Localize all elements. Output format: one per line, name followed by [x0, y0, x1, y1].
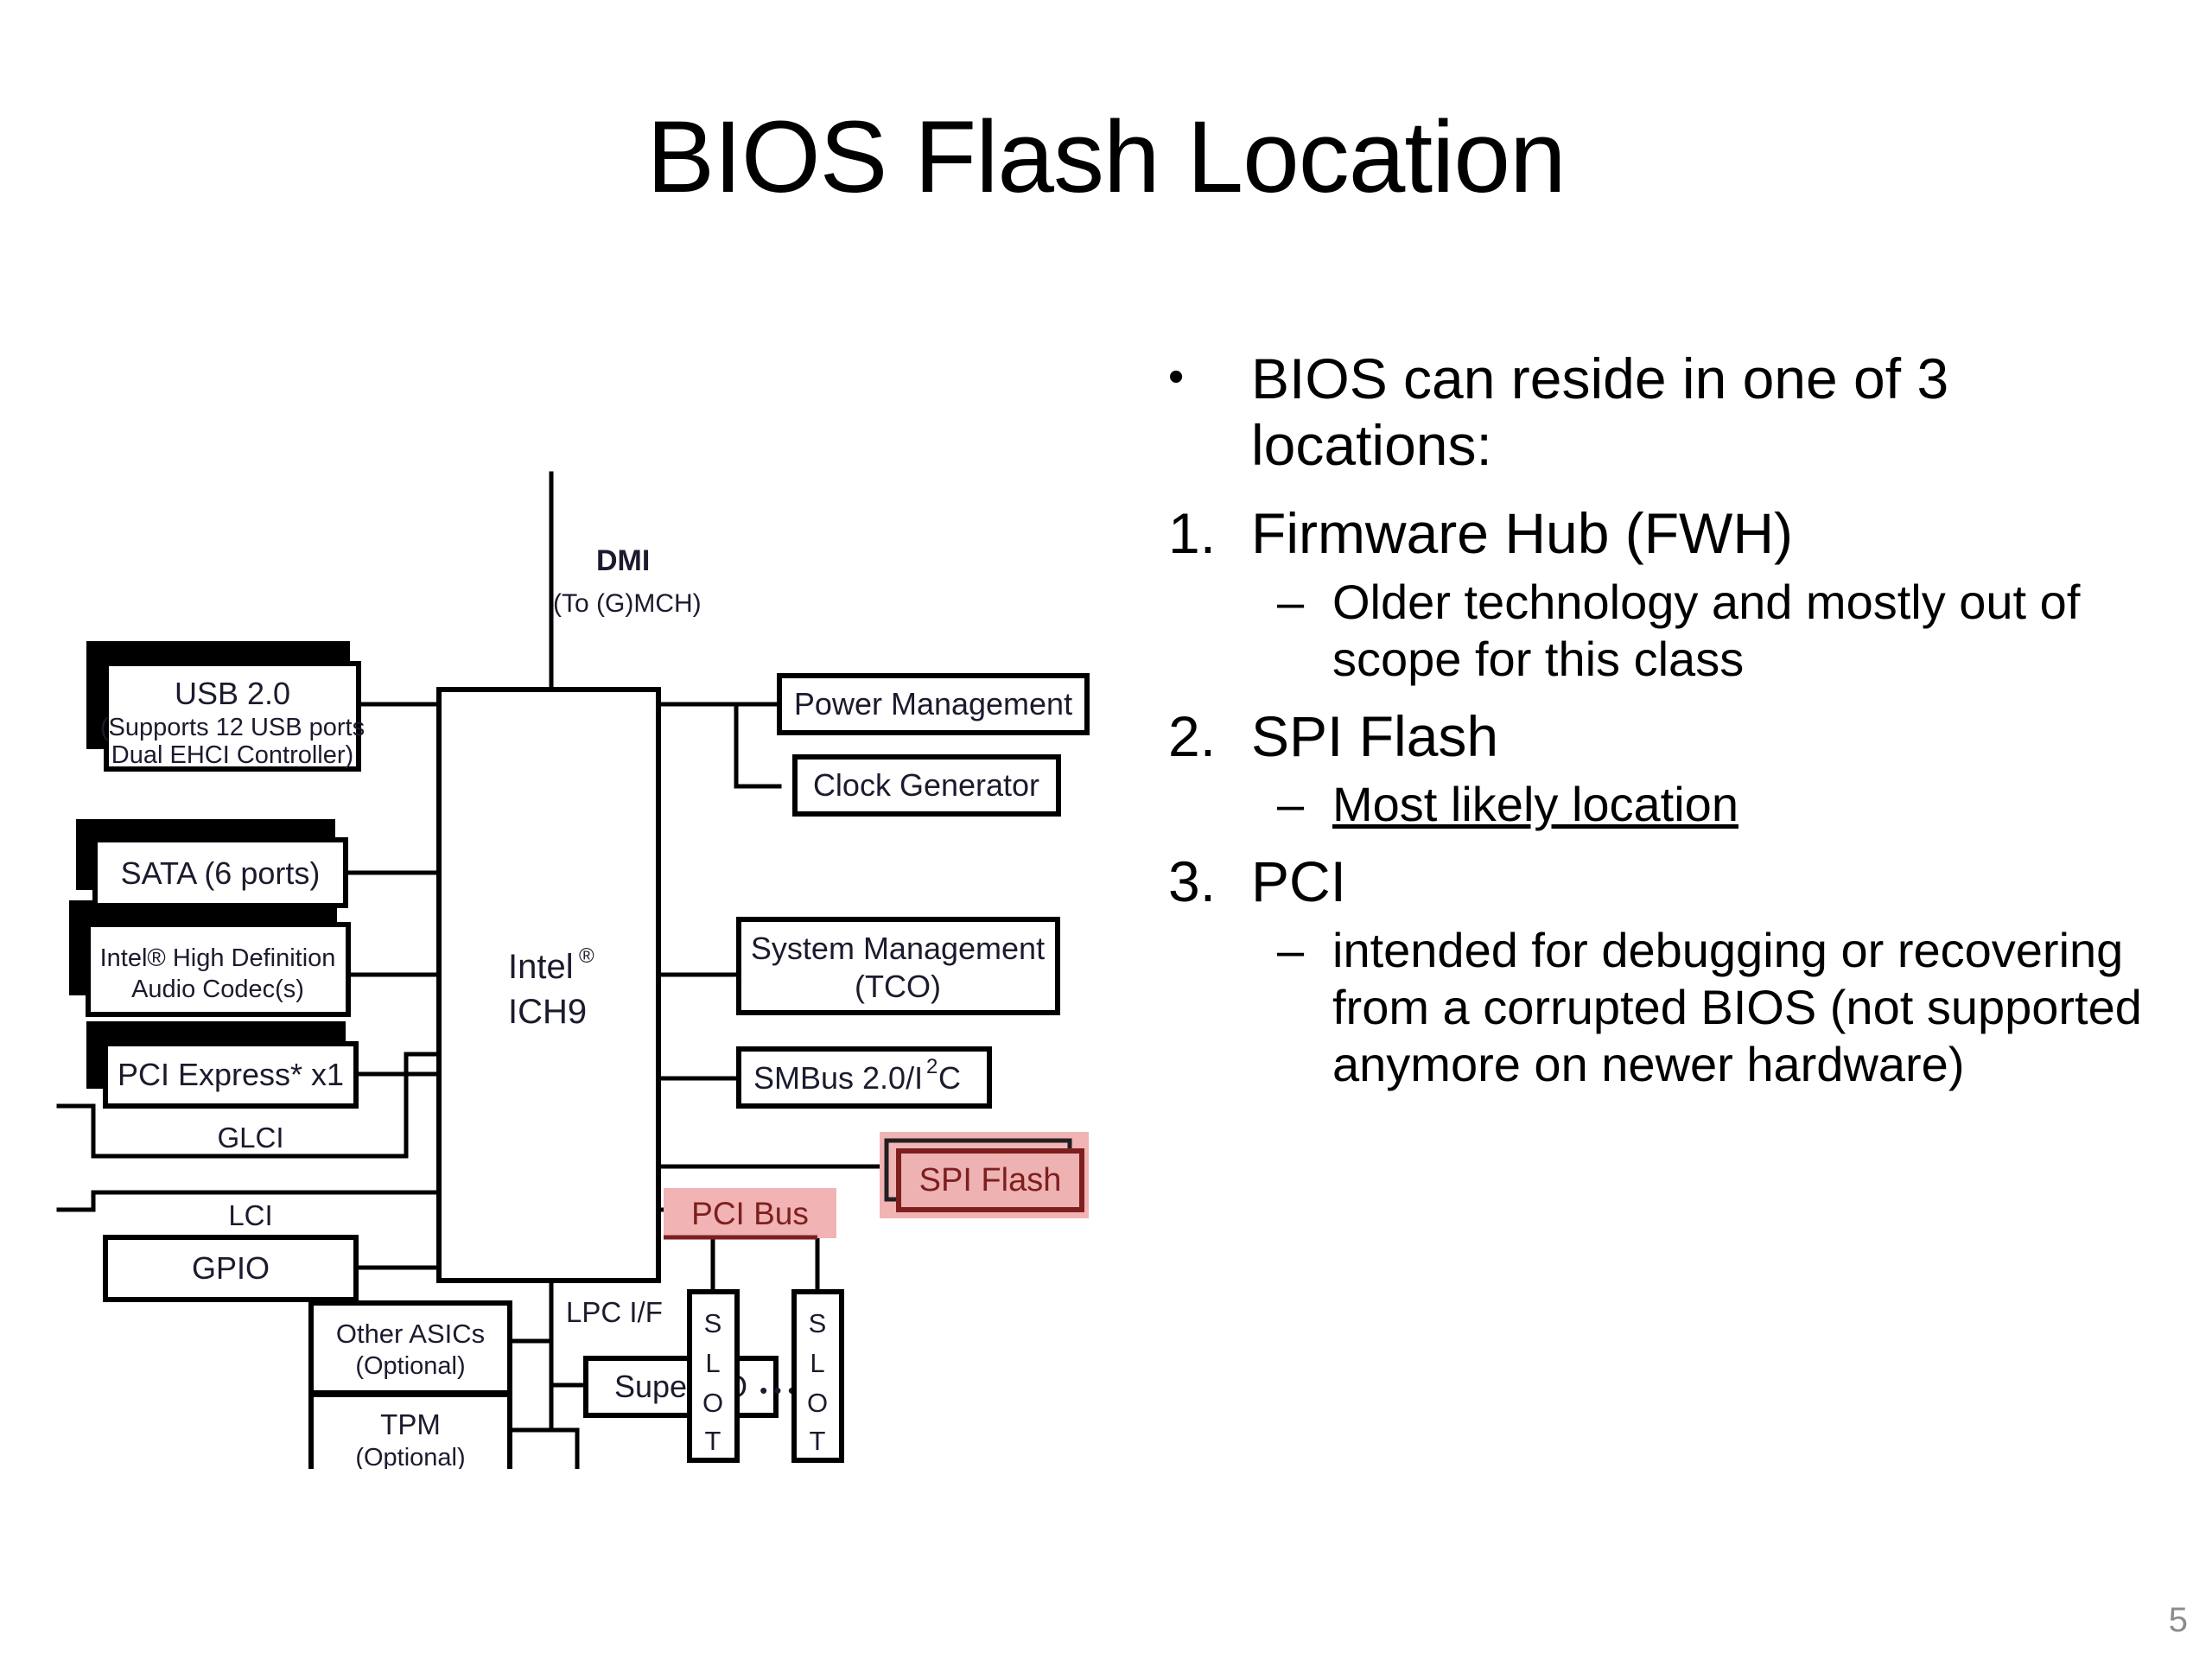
page-title: BIOS Flash Location — [0, 102, 2212, 214]
fwh-to-lpc — [551, 1430, 577, 1469]
tpm-label-line2: (Optional) — [355, 1444, 465, 1469]
bullet-item-2: 2. SPI Flash — [1168, 703, 2205, 770]
pci-bus-label: PCI Bus — [691, 1196, 809, 1231]
pcie-to-chip — [356, 1054, 439, 1074]
usb-label-line3: Dual EHCI Controller) — [111, 741, 353, 769]
pm-clock-bracket — [658, 704, 779, 786]
slot2-letter-o: O — [807, 1388, 828, 1418]
hda-label-line1: Intel® High Definition — [100, 944, 336, 972]
list-number-3: 3. — [1168, 849, 1251, 915]
glci-label: GLCI — [217, 1122, 283, 1154]
hda-label-line2: Audio Codec(s) — [131, 976, 304, 1003]
bullet-list: • BIOS can reside in one of 3 locations:… — [1168, 346, 2205, 1096]
pci-slot-1: S L O T — [690, 1292, 737, 1460]
bullet-item-0: • BIOS can reside in one of 3 locations: — [1168, 346, 2205, 478]
bullet-text-1: Firmware Hub (FWH) — [1251, 500, 2205, 567]
sata-block: SATA (6 ports) — [95, 840, 346, 906]
system-management-label-line1: System Management — [751, 931, 1045, 966]
list-number-1: 1. — [1168, 500, 1251, 567]
bullet-marker-dot: • — [1168, 346, 1251, 410]
other-asics-block: Other ASICs (Optional) — [311, 1303, 510, 1393]
page-number: 5 — [2169, 1601, 2188, 1640]
power-management-label: Power Management — [794, 686, 1072, 721]
ich9-chip: Intel ® ICH9 — [439, 690, 658, 1281]
slot2-letter-s: S — [809, 1308, 827, 1338]
other-asics-label-line2: (Optional) — [355, 1352, 465, 1380]
super-io-block: Super I/O — [586, 1358, 776, 1415]
usb-label-line2: (Supports 12 USB ports — [100, 714, 365, 741]
tpm-label-line1: TPM — [380, 1408, 441, 1440]
ich9-label-line1: Intel — [508, 948, 574, 986]
bullet-item-1-sub: – Older technology and mostly out of sco… — [1277, 574, 2205, 688]
gpio-label: GPIO — [192, 1250, 270, 1286]
pci-slot-2: S L O T — [794, 1292, 842, 1460]
sata-label: SATA (6 ports) — [121, 855, 321, 891]
dmi-label: DMI — [596, 544, 650, 577]
slot1-letter-s: S — [704, 1308, 722, 1338]
slots-ellipsis-icon: • • • — [760, 1377, 796, 1403]
bullet-item-3-sub: – intended for debugging or recovering f… — [1277, 922, 2205, 1093]
clock-generator-label: Clock Generator — [813, 767, 1039, 803]
spi-flash-label: SPI Flash — [919, 1162, 1062, 1198]
bullet-text-2: SPI Flash — [1251, 703, 2205, 770]
smbus-label: SMBus 2.0/I — [753, 1060, 923, 1096]
smbus-label-suffix: C — [938, 1060, 961, 1096]
bullet-text-0: BIOS can reside in one of 3 locations: — [1251, 346, 2205, 478]
dash-marker-2: – — [1277, 776, 1332, 833]
bullet-item-2-sub: – Most likely location — [1277, 776, 2205, 833]
diagram-canvas: Intel ® ICH9 DMI (To (G)MCH) USB 2.0 (Su… — [0, 449, 1132, 1469]
bullet-text-3: PCI — [1251, 849, 2205, 915]
bullet-text-3-sub: intended for debugging or recovering fro… — [1332, 922, 2205, 1093]
system-management-label-line2: (TCO) — [855, 969, 941, 1004]
power-management-block: Power Management — [779, 676, 1087, 733]
ich9-block-diagram: Intel ® ICH9 DMI (To (G)MCH) USB 2.0 (Su… — [0, 449, 1132, 1469]
bullet-item-1: 1. Firmware Hub (FWH) — [1168, 500, 2205, 567]
tpm-block: TPM (Optional) — [311, 1395, 510, 1469]
slot2-letter-t: T — [810, 1426, 826, 1456]
smbus-block: SMBus 2.0/I 2 C — [739, 1049, 989, 1106]
slot1-letter-o: O — [702, 1388, 723, 1418]
system-management-block: System Management (TCO) — [739, 919, 1058, 1013]
other-asics-label-line1: Other ASICs — [336, 1319, 485, 1349]
smbus-superscript: 2 — [926, 1055, 938, 1078]
ich9-label-line2: ICH9 — [508, 993, 587, 1031]
dash-marker-3: – — [1277, 922, 1332, 979]
slot1-letter-l: L — [705, 1348, 720, 1378]
hda-block: Intel® High Definition Audio Codec(s) — [88, 925, 348, 1014]
pcie-block: PCI Express* x1 — [105, 1044, 356, 1106]
pcie-label: PCI Express* x1 — [118, 1057, 344, 1092]
usb-block: USB 2.0 (Supports 12 USB ports Dual EHCI… — [100, 664, 365, 769]
spi-flash-block: SPI Flash — [880, 1132, 1089, 1218]
gpio-block: GPIO — [105, 1237, 356, 1300]
clock-generator-block: Clock Generator — [795, 757, 1058, 814]
slot1-letter-t: T — [705, 1426, 721, 1456]
list-number-2: 2. — [1168, 703, 1251, 770]
ich9-registered-icon: ® — [579, 944, 594, 968]
bullet-item-3: 3. PCI — [1168, 849, 2205, 915]
bullet-text-2-sub: Most likely location — [1332, 776, 2205, 833]
lpc-label: LPC I/F — [566, 1296, 663, 1328]
dmi-label-group: DMI (To (G)MCH) — [553, 544, 702, 618]
pci-bus-group: PCI Bus — [664, 1188, 836, 1238]
usb-label-line1: USB 2.0 — [175, 676, 290, 711]
bullet-text-1-sub: Older technology and mostly out of scope… — [1332, 574, 2205, 688]
dash-marker-1: – — [1277, 574, 1332, 631]
lci-label: LCI — [228, 1199, 272, 1231]
slot2-letter-l: L — [810, 1348, 824, 1378]
dmi-sublabel: (To (G)MCH) — [553, 589, 702, 618]
